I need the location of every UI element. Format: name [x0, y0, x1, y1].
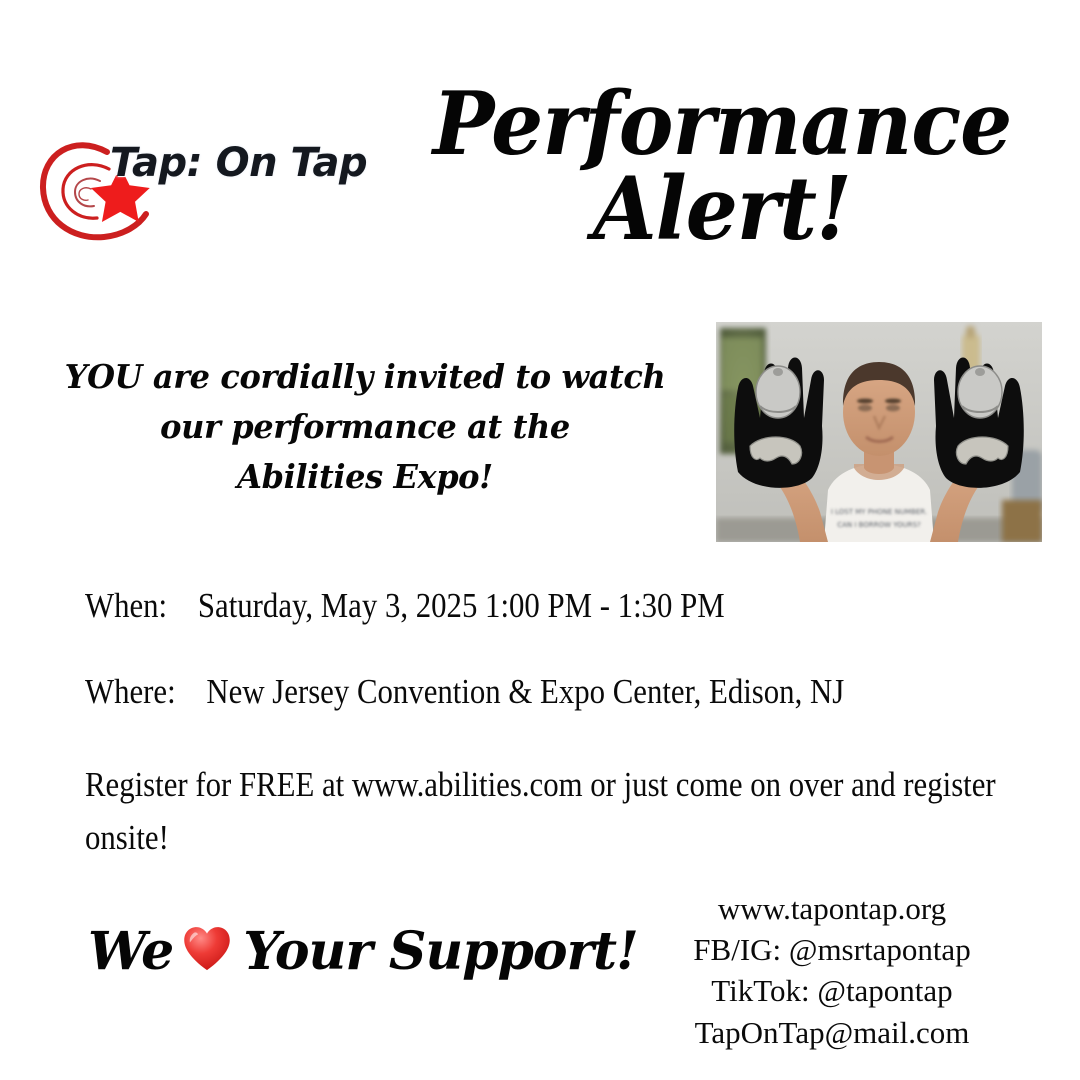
invitation-text: YOU are cordially invited to watch our p… — [32, 352, 697, 502]
contact-block: www.tapontap.org FB/IG: @msrtapontap Tik… — [622, 888, 1042, 1053]
invitation-line-2: our performance at the — [32, 402, 697, 452]
svg-text:I LOST MY PHONE NUMBER.: I LOST MY PHONE NUMBER. — [831, 508, 927, 516]
flyer-canvas: Tap: On Tap Performance Alert! YOU are c… — [0, 0, 1080, 1080]
page-title-line-2: Alert! — [392, 167, 1052, 252]
page-title: Performance Alert! — [392, 82, 1052, 252]
support-suffix: Your Support! — [243, 921, 638, 982]
where-value: New Jersey Convention & Expo Center, Edi… — [206, 672, 844, 711]
registration-note: Register for FREE at www.abilities.com o… — [85, 758, 1018, 864]
invitation-line-1: YOU are cordially invited to watch — [32, 352, 697, 402]
contact-social[interactable]: FB/IG: @msrtapontap — [622, 929, 1042, 970]
when-label: When: — [85, 586, 167, 625]
event-where-row: Where: New Jersey Convention & Expo Cent… — [85, 672, 930, 712]
event-when-row: When: Saturday, May 3, 2025 1:00 PM - 1:… — [85, 586, 930, 626]
contact-website[interactable]: www.tapontap.org — [622, 888, 1042, 929]
support-message: We Your Support! — [88, 916, 638, 986]
brand-logo: Tap: On Tap — [38, 128, 368, 248]
svg-text:CAN I BORROW YOURS?: CAN I BORROW YOURS? — [837, 521, 921, 529]
contact-tiktok[interactable]: TikTok: @tapontap — [622, 970, 1042, 1011]
brand-logo-text: Tap: On Tap — [110, 140, 367, 186]
performer-photo: I LOST MY PHONE NUMBER. CAN I BORROW YOU… — [716, 322, 1042, 542]
when-value: Saturday, May 3, 2025 1:00 PM - 1:30 PM — [198, 586, 725, 625]
contact-email[interactable]: TapOnTap@mail.com — [622, 1012, 1042, 1053]
invitation-line-3: Abilities Expo! — [32, 452, 697, 502]
page-title-line-1: Performance — [392, 82, 1052, 167]
event-details: When: Saturday, May 3, 2025 1:00 PM - 1:… — [85, 586, 930, 864]
support-prefix: We — [88, 921, 173, 982]
where-label: Where: — [85, 672, 176, 711]
red-heart-icon — [181, 923, 233, 975]
